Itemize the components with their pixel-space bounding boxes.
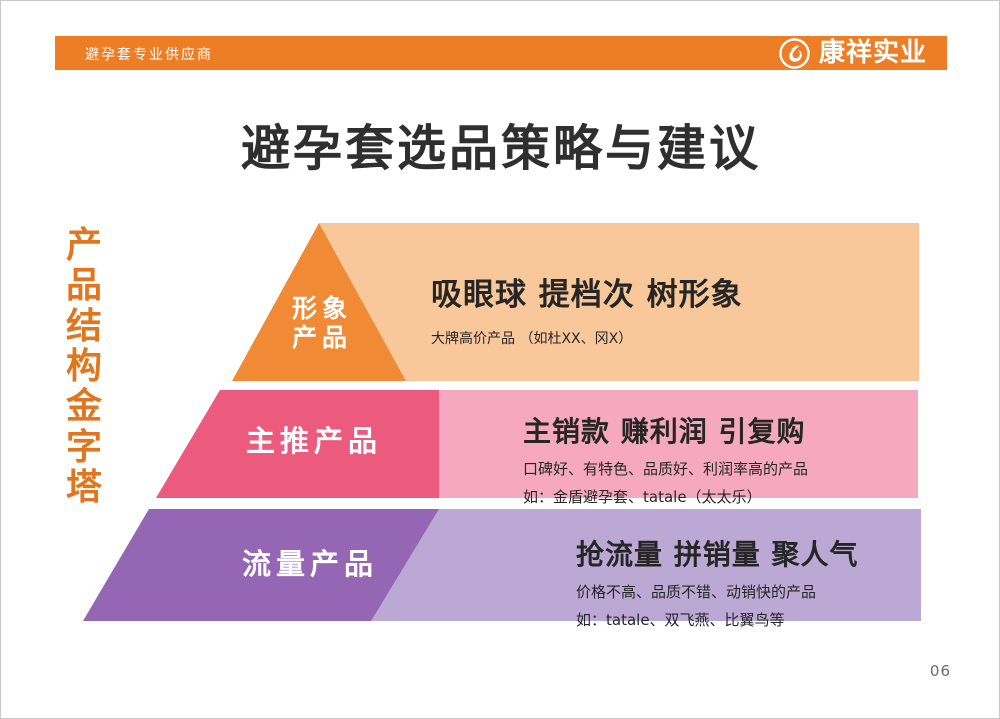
side-label-char: 金 (61, 387, 107, 427)
page-number: 06 (930, 662, 951, 680)
tier-1-label: 形象 产品 (269, 295, 375, 353)
tier-3-body: 抢流量 拼销量 聚人气 价格不高、品质不错、动销快的产品 如：tatale、双飞… (576, 533, 859, 630)
brand-name: 康祥实业 (819, 40, 927, 66)
tier-2-label: 主推产品 (225, 425, 403, 458)
tier-2-body: 主销款 赚利润 引复购 口碑好、有特色、品质好、利润率高的产品 如：金盾避孕套、… (523, 410, 808, 507)
tier-1-body: 吸眼球 提档次 树形象 大牌高价产品 （如杜XX、冈X） (431, 269, 743, 348)
tier-3-detail: 如：tatale、双飞燕、比翼鸟等 (576, 609, 859, 630)
tier-1-detail: 大牌高价产品 （如杜XX、冈X） (431, 328, 743, 348)
tier-1-label-line: 产品 (269, 324, 375, 353)
tier-2-detail: 口碑好、有特色、品质好、利润率高的产品 (523, 458, 808, 479)
tier-3-label: 流量产品 (217, 548, 403, 581)
tier-2-detail: 如：金盾避孕套、tatale（太太乐） (523, 486, 808, 507)
side-label-char: 塔 (61, 468, 107, 508)
tier-1-headline: 吸眼球 提档次 树形象 (431, 269, 743, 314)
side-label-char: 产 (61, 226, 107, 266)
flame-circle-logo-icon (779, 38, 810, 69)
side-label-char: 品 (61, 266, 107, 306)
slide-canvas: 避孕套专业供应商 康祥实业 避孕套选品策略与建议 产 品 结 构 金 字 塔 (0, 0, 1000, 719)
page-title: 避孕套选品策略与建议 (1, 109, 1000, 180)
tier-3-detail: 价格不高、品质不错、动销快的产品 (576, 581, 859, 602)
side-label-char: 结 (61, 307, 107, 347)
brand-block: 康祥实业 (779, 36, 927, 70)
vertical-side-label: 产 品 结 构 金 字 塔 (61, 226, 107, 508)
tier-1-label-line: 形象 (269, 295, 375, 324)
side-label-char: 构 (61, 347, 107, 387)
side-label-char: 字 (61, 428, 107, 468)
header-tagline: 避孕套专业供应商 (85, 44, 213, 64)
tier-3-headline: 抢流量 拼销量 聚人气 (576, 533, 859, 573)
tier-2-headline: 主销款 赚利润 引复购 (523, 410, 808, 450)
